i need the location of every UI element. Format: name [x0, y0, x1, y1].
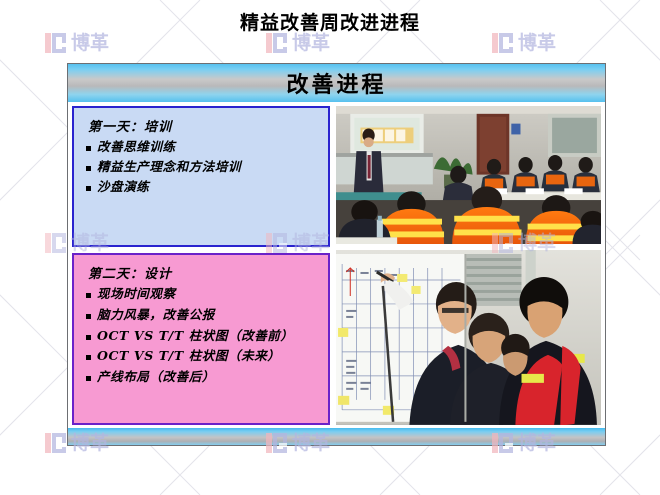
list-item: OCT VS T/T 柱状图（未来） — [86, 349, 318, 363]
right-column — [336, 106, 601, 425]
day-one-bullet-list: 改善思维训练 精益生产理念和方法培训 沙盘演练 — [86, 140, 318, 193]
list-item: 沙盘演练 — [86, 180, 318, 194]
day-two-title: 第二天：设计 — [88, 263, 318, 282]
boge-logo-icon — [45, 232, 67, 254]
watermark-tile: 博革 — [266, 32, 330, 54]
boge-logo-icon — [266, 32, 288, 54]
page-title: 精益改善周改进进程 — [0, 8, 660, 35]
list-item: 精益生产理念和方法培训 — [86, 160, 318, 174]
slide-footer-bar — [68, 428, 605, 445]
slide-body: 第一天：培训 改善思维训练 精益生产理念和方法培训 沙盘演练 — [68, 102, 605, 428]
square-bullet-icon — [86, 186, 91, 191]
boge-logo-icon — [45, 432, 67, 454]
square-bullet-icon — [86, 146, 91, 151]
list-item-label: OCT VS T/T 柱状图（改善前） — [97, 329, 294, 343]
list-item-label: 沙盘演练 — [97, 180, 149, 194]
slide-frame: 改善进程 第一天：培训 改善思维训练 精益生产理念和方法培训 — [67, 63, 606, 446]
list-item: 脑力风暴，改善公报 — [86, 308, 318, 322]
list-item-label: 现场时间观察 — [97, 287, 176, 301]
day-two-box: 第二天：设计 现场时间观察 脑力风暴，改善公报 OCT VS T/T 柱状图（改… — [72, 253, 330, 425]
boge-logo-icon — [45, 32, 67, 54]
square-bullet-icon — [86, 335, 91, 340]
square-bullet-icon — [86, 355, 91, 360]
watermark-label: 博革 — [292, 34, 330, 53]
list-item: OCT VS T/T 柱状图（改善前） — [86, 329, 318, 343]
list-item-label: OCT VS T/T 柱状图（未来） — [97, 349, 280, 363]
photo-training-classroom — [336, 106, 601, 244]
day-one-box: 第一天：培训 改善思维训练 精益生产理念和方法培训 沙盘演练 — [72, 106, 330, 247]
list-item: 产线布局（改善后） — [86, 370, 318, 384]
square-bullet-icon — [86, 293, 91, 298]
list-item-label: 脑力风暴，改善公报 — [97, 308, 215, 322]
slide-header-bar: 改善进程 — [68, 64, 605, 102]
square-bullet-icon — [86, 314, 91, 319]
day-two-bullet-list: 现场时间观察 脑力风暴，改善公报 OCT VS T/T 柱状图（改善前） OCT… — [86, 287, 318, 384]
photo-design-whiteboard — [336, 250, 601, 425]
square-bullet-icon — [86, 376, 91, 381]
watermark-label: 博革 — [71, 34, 109, 53]
list-item-label: 改善思维训练 — [97, 140, 176, 154]
list-item-label: 精益生产理念和方法培训 — [97, 160, 241, 174]
boge-logo-icon — [492, 32, 514, 54]
watermark-label: 博革 — [518, 34, 556, 53]
watermark-tile: 博革 — [45, 32, 109, 54]
watermark-tile: 博革 — [492, 32, 556, 54]
square-bullet-icon — [86, 166, 91, 171]
list-item: 改善思维训练 — [86, 140, 318, 154]
list-item-label: 产线布局（改善后） — [97, 370, 215, 384]
slide-header-title: 改善进程 — [286, 67, 386, 99]
left-column: 第一天：培训 改善思维训练 精益生产理念和方法培训 沙盘演练 — [72, 106, 330, 425]
day-one-title: 第一天：培训 — [88, 116, 318, 135]
list-item: 现场时间观察 — [86, 287, 318, 301]
